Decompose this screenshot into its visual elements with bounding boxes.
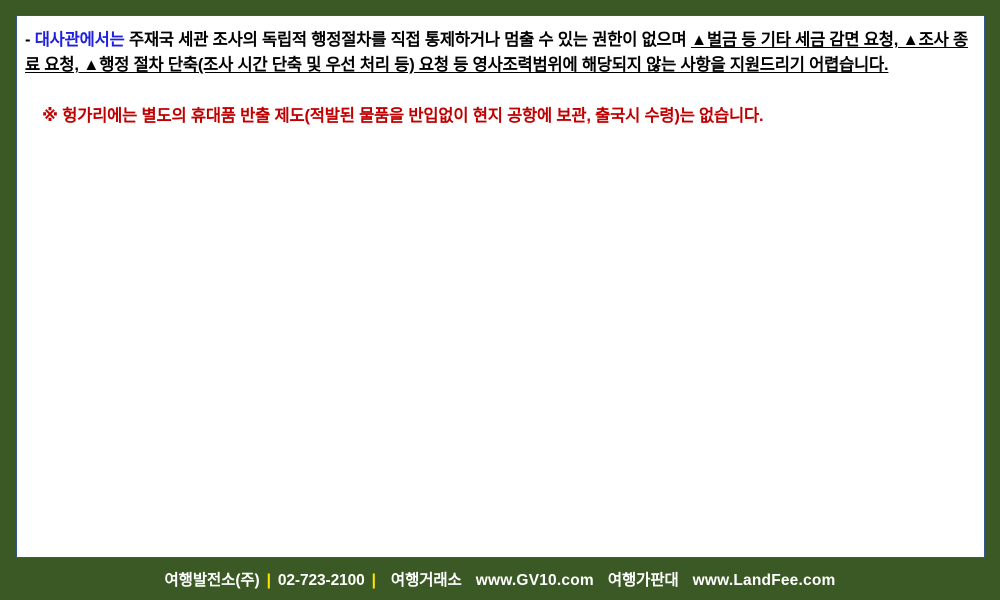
paragraph-plain-text: 주재국 세관 조사의 독립적 행정절차를 직접 통제하거나 멈출 수 있는 권한… (129, 31, 687, 49)
blue-emphasis-text: 대사관에서는 (35, 31, 125, 49)
footer-separator-1: | (260, 572, 278, 590)
bullet-dash: - (25, 31, 30, 49)
footer-brand-gv10: 여행거래소 (383, 568, 462, 590)
paragraph-embassy-notice: - 대사관에서는 주재국 세관 조사의 독립적 행정절차를 직접 통제하거나 멈… (25, 28, 976, 78)
paragraph-hungary-text: 헝가리에는 별도의 휴대품 반출 제도(적발된 물품을 반입없이 현지 공항에 … (62, 107, 763, 125)
presentation-slide: - 대사관에서는 주재국 세관 조사의 독립적 행정절차를 직접 통제하거나 멈… (0, 0, 1000, 600)
footer-contact-line: 여행발전소(주) | 02-723-2100 | 여행거래소 www.GV10.… (165, 568, 836, 590)
footer-phone-number: 02-723-2100 (278, 572, 365, 590)
footer-url-gv10[interactable]: www.GV10.com (462, 572, 594, 590)
footer-brand-landfee: 여행가판대 (594, 568, 679, 590)
paragraph-hungary-notice: ※ 헝가리에는 별도의 휴대품 반출 제도(적발된 물품을 반입없이 현지 공항… (25, 104, 976, 129)
footer-company-name: 여행발전소(주) (165, 568, 260, 590)
footer-separator-2: | (365, 572, 383, 590)
reference-mark-icon: ※ (42, 107, 58, 125)
footer-url-landfee[interactable]: www.LandFee.com (679, 572, 836, 590)
slide-footer: 여행발전소(주) | 02-723-2100 | 여행거래소 www.GV10.… (0, 558, 1000, 600)
slide-content-canvas: - 대사관에서는 주재국 세관 조사의 독립적 행정절차를 직접 통제하거나 멈… (16, 15, 985, 558)
body-copy: - 대사관에서는 주재국 세관 조사의 독립적 행정절차를 직접 통제하거나 멈… (25, 28, 976, 129)
